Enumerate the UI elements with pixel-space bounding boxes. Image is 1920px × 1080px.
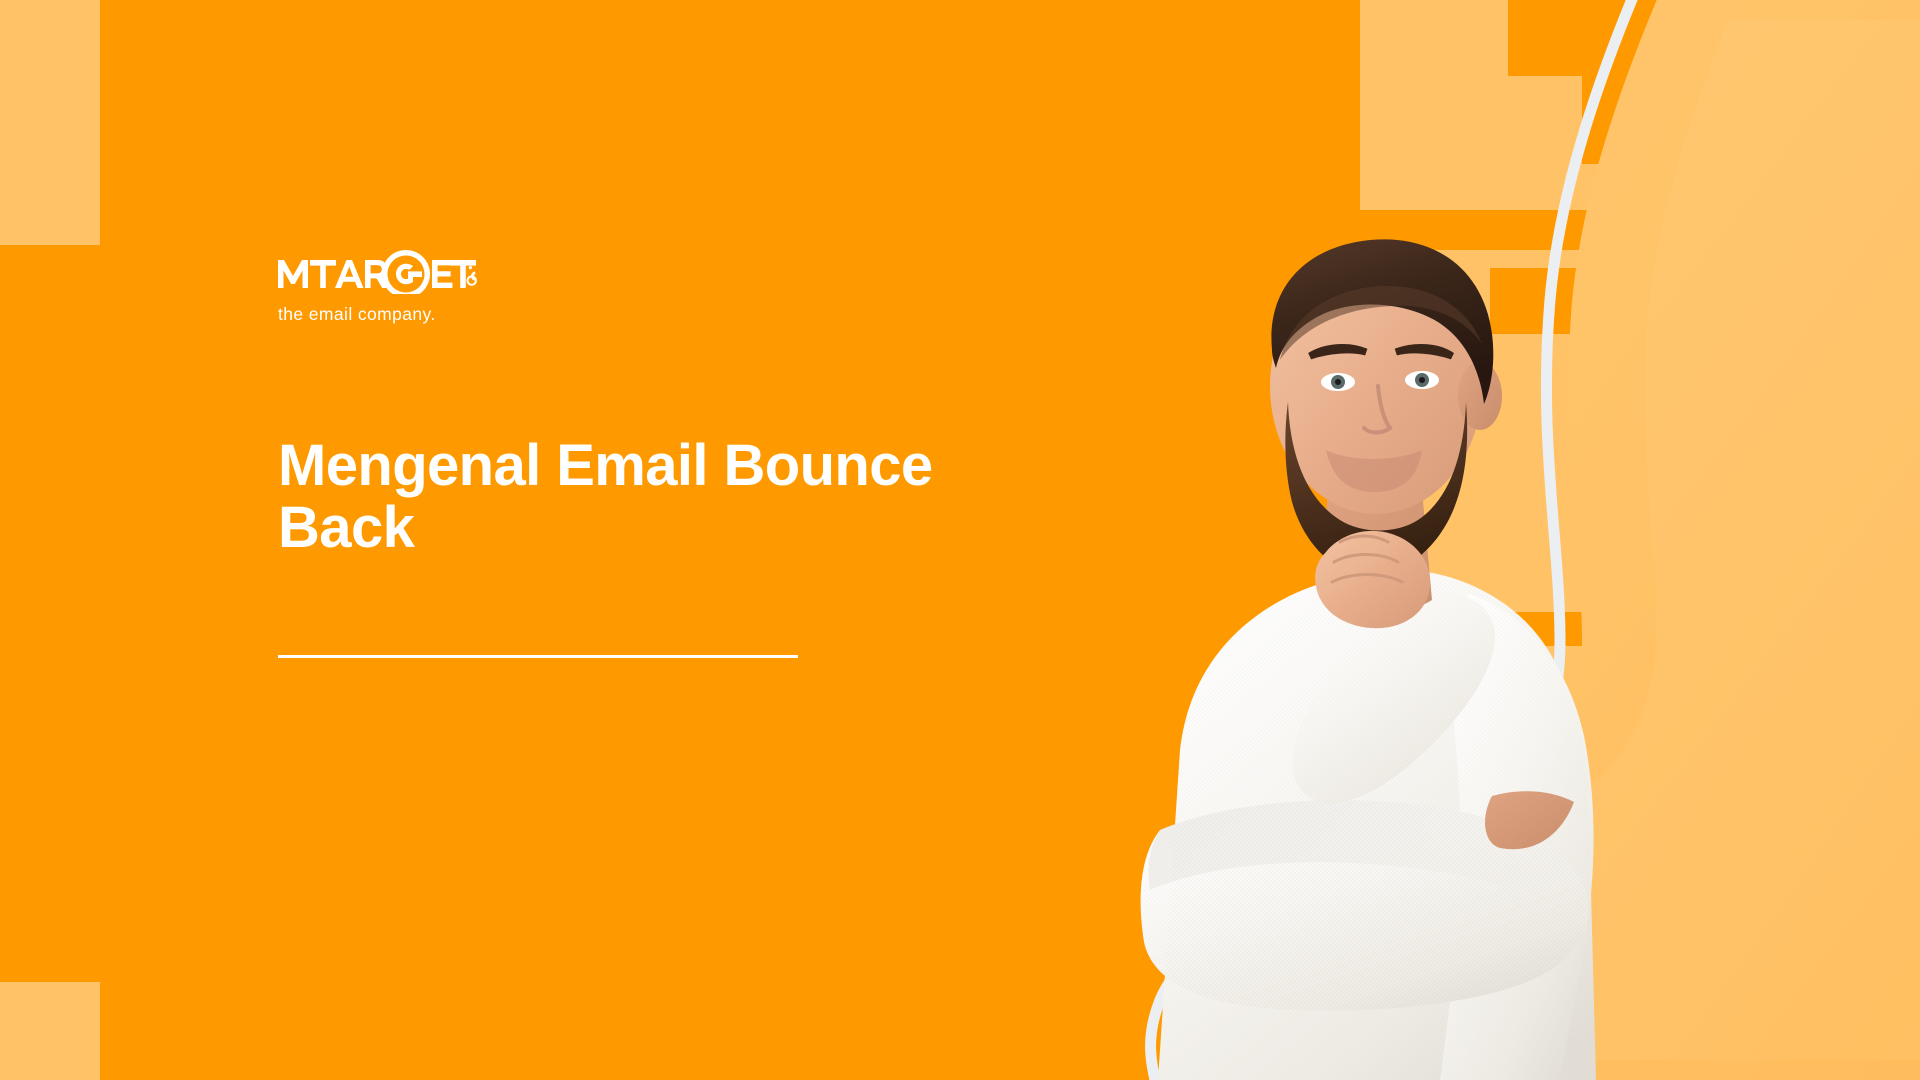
logo-wordmark-mark — [278, 246, 478, 292]
accent-block-top-left — [0, 0, 100, 245]
eye-left-pupil — [1335, 379, 1341, 385]
content-column: the email company. Mengenal Email Bounce… — [278, 246, 1038, 658]
accent-block-bottom-left — [0, 982, 100, 1080]
page-title: Mengenal Email Bounce Back — [278, 435, 1038, 559]
page-title-line-1: Mengenal Email Bounce — [278, 433, 933, 498]
brand-logo: the email company. — [278, 246, 478, 325]
poster-canvas: the email company. Mengenal Email Bounce… — [0, 0, 1920, 1080]
eye-right-pupil — [1419, 377, 1425, 383]
hero-photo-man — [1040, 190, 1600, 1080]
title-underline-rule — [278, 655, 798, 658]
logo-tagline: the email company. — [278, 304, 478, 325]
page-title-line-2: Back — [278, 495, 414, 560]
logo-co-suffix — [468, 266, 477, 285]
